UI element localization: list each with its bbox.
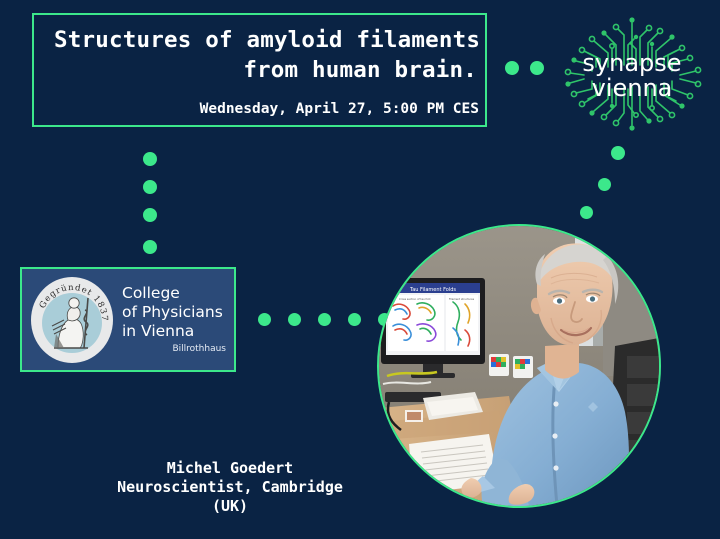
speaker-country: (UK) <box>60 497 400 516</box>
speaker-name: Michel Goedert <box>60 459 400 478</box>
college-line-1: College <box>122 284 230 303</box>
green-dot <box>580 206 593 219</box>
synapse-vienna-logo: synapse vienna <box>548 5 716 145</box>
svg-text:Filament structures: Filament structures <box>449 297 475 301</box>
hygieia-seal-icon: Gegründet 1837 <box>28 276 116 364</box>
monitor-title: Tau Filament Folds <box>409 287 456 293</box>
college-subtitle: Billrothhaus <box>122 343 230 356</box>
green-dot <box>288 313 301 326</box>
green-dot <box>598 178 611 191</box>
green-dot <box>143 152 157 166</box>
neuron-circuit-icon <box>548 5 716 145</box>
green-dot <box>505 61 519 75</box>
college-line-3: in Vienna <box>122 322 230 341</box>
green-dot <box>348 313 361 326</box>
green-dot <box>258 313 271 326</box>
title-line-1: Structures of amyloid filaments <box>48 25 479 55</box>
college-line-2: of Physicians <box>122 303 230 322</box>
event-datetime: Wednesday, April 27, 5:00 PM CES <box>48 101 479 117</box>
green-dot <box>611 146 625 160</box>
green-dot <box>143 180 157 194</box>
green-dot <box>143 208 157 222</box>
green-dot <box>318 313 331 326</box>
green-dot <box>530 61 544 75</box>
speaker-role: Neuroscientist, Cambridge <box>60 478 400 497</box>
college-text-block: College of Physicians in Vienna Billroth… <box>116 284 234 356</box>
speaker-portrait-photo: Tau Filament Folds <box>377 224 661 508</box>
college-of-physicians-card: Gegründet 1837 College of Physicians in … <box>20 267 236 372</box>
green-dot <box>143 240 157 254</box>
svg-text:Cross section of tau fold: Cross section of tau fold <box>399 297 431 301</box>
portrait-image: Tau Filament Folds <box>379 226 659 506</box>
poster-canvas: Structures of amyloid filaments from hum… <box>0 0 720 539</box>
title-panel: Structures of amyloid filaments from hum… <box>32 13 487 127</box>
title-line-2: from human brain. <box>48 55 479 85</box>
speaker-caption: Michel Goedert Neuroscientist, Cambridge… <box>60 459 400 516</box>
